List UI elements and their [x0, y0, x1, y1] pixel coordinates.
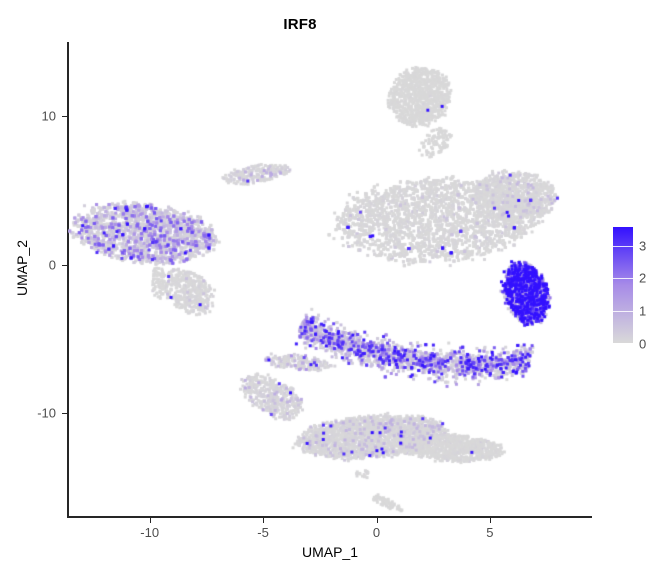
x-tick-label: -5	[257, 525, 269, 540]
legend-tick-mark	[612, 246, 634, 247]
legend-tick-mark	[612, 278, 634, 279]
x-tick-label: 0	[373, 525, 380, 540]
y-tick-mark	[62, 265, 67, 266]
legend-tick-mark	[612, 311, 634, 312]
y-tick-label: 0	[4, 257, 56, 272]
x-tick-mark	[263, 518, 264, 523]
x-tick-label: -10	[140, 525, 159, 540]
x-tick-mark	[377, 518, 378, 523]
legend-tick-label: 0	[639, 337, 646, 352]
legend-tick-label: 2	[639, 271, 646, 286]
y-axis-label: UMAP_2	[14, 128, 30, 408]
legend-tick-label: 1	[639, 304, 646, 319]
y-tick-label: 10	[4, 109, 56, 124]
legend-tick-mark	[612, 344, 634, 345]
umap-feature-plot: IRF8 -10-505 100-10 UMAP_1 UMAP_2 3210	[0, 0, 672, 576]
x-tick-mark	[490, 518, 491, 523]
x-tick-label: 5	[486, 525, 493, 540]
page-title: IRF8	[0, 16, 600, 33]
color-legend: 3210	[612, 226, 668, 344]
legend-tick-label: 3	[639, 238, 646, 253]
x-axis-label: UMAP_1	[68, 544, 592, 560]
y-tick-label: -10	[4, 406, 56, 421]
x-tick-mark	[150, 518, 151, 523]
plot-panel	[68, 42, 592, 517]
scatter-canvas	[68, 42, 592, 517]
legend-colorbar	[612, 226, 634, 344]
y-tick-mark	[62, 116, 67, 117]
y-tick-mark	[62, 413, 67, 414]
